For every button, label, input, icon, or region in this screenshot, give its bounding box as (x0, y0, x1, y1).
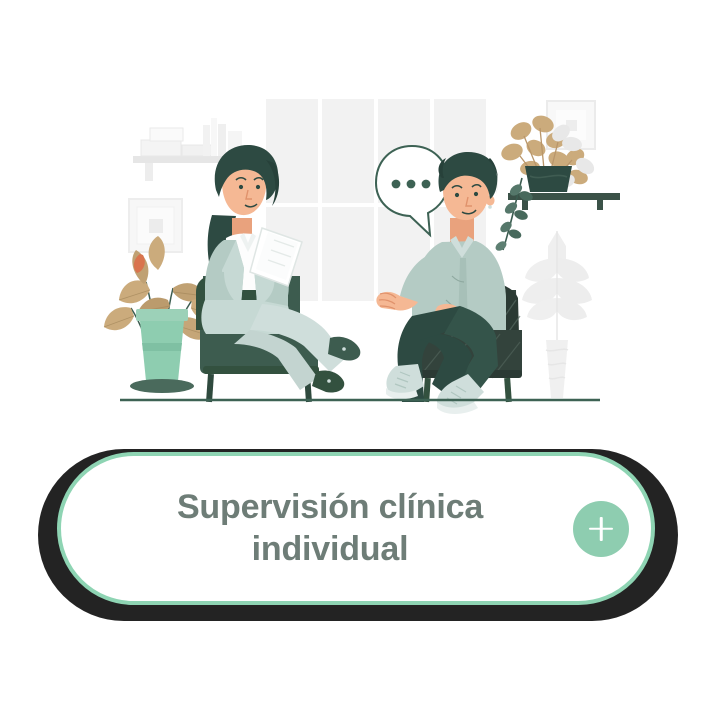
therapy-session-illustration (0, 0, 709, 440)
add-button[interactable] (573, 501, 629, 557)
speech-dot (392, 180, 401, 189)
supervision-card[interactable]: Supervisión clínica individual (57, 452, 655, 605)
card-title-line-1: Supervisión clínica (177, 488, 483, 526)
page-root: Supervisión clínica individual (0, 0, 709, 709)
card-title: Supervisión clínica individual (177, 487, 483, 570)
speech-dot (407, 180, 416, 189)
speech-dot (422, 180, 431, 189)
supervision-card-wrapper: Supervisión clínica individual (38, 449, 678, 621)
plus-icon (589, 517, 613, 541)
card-title-line-2: individual (252, 530, 409, 568)
